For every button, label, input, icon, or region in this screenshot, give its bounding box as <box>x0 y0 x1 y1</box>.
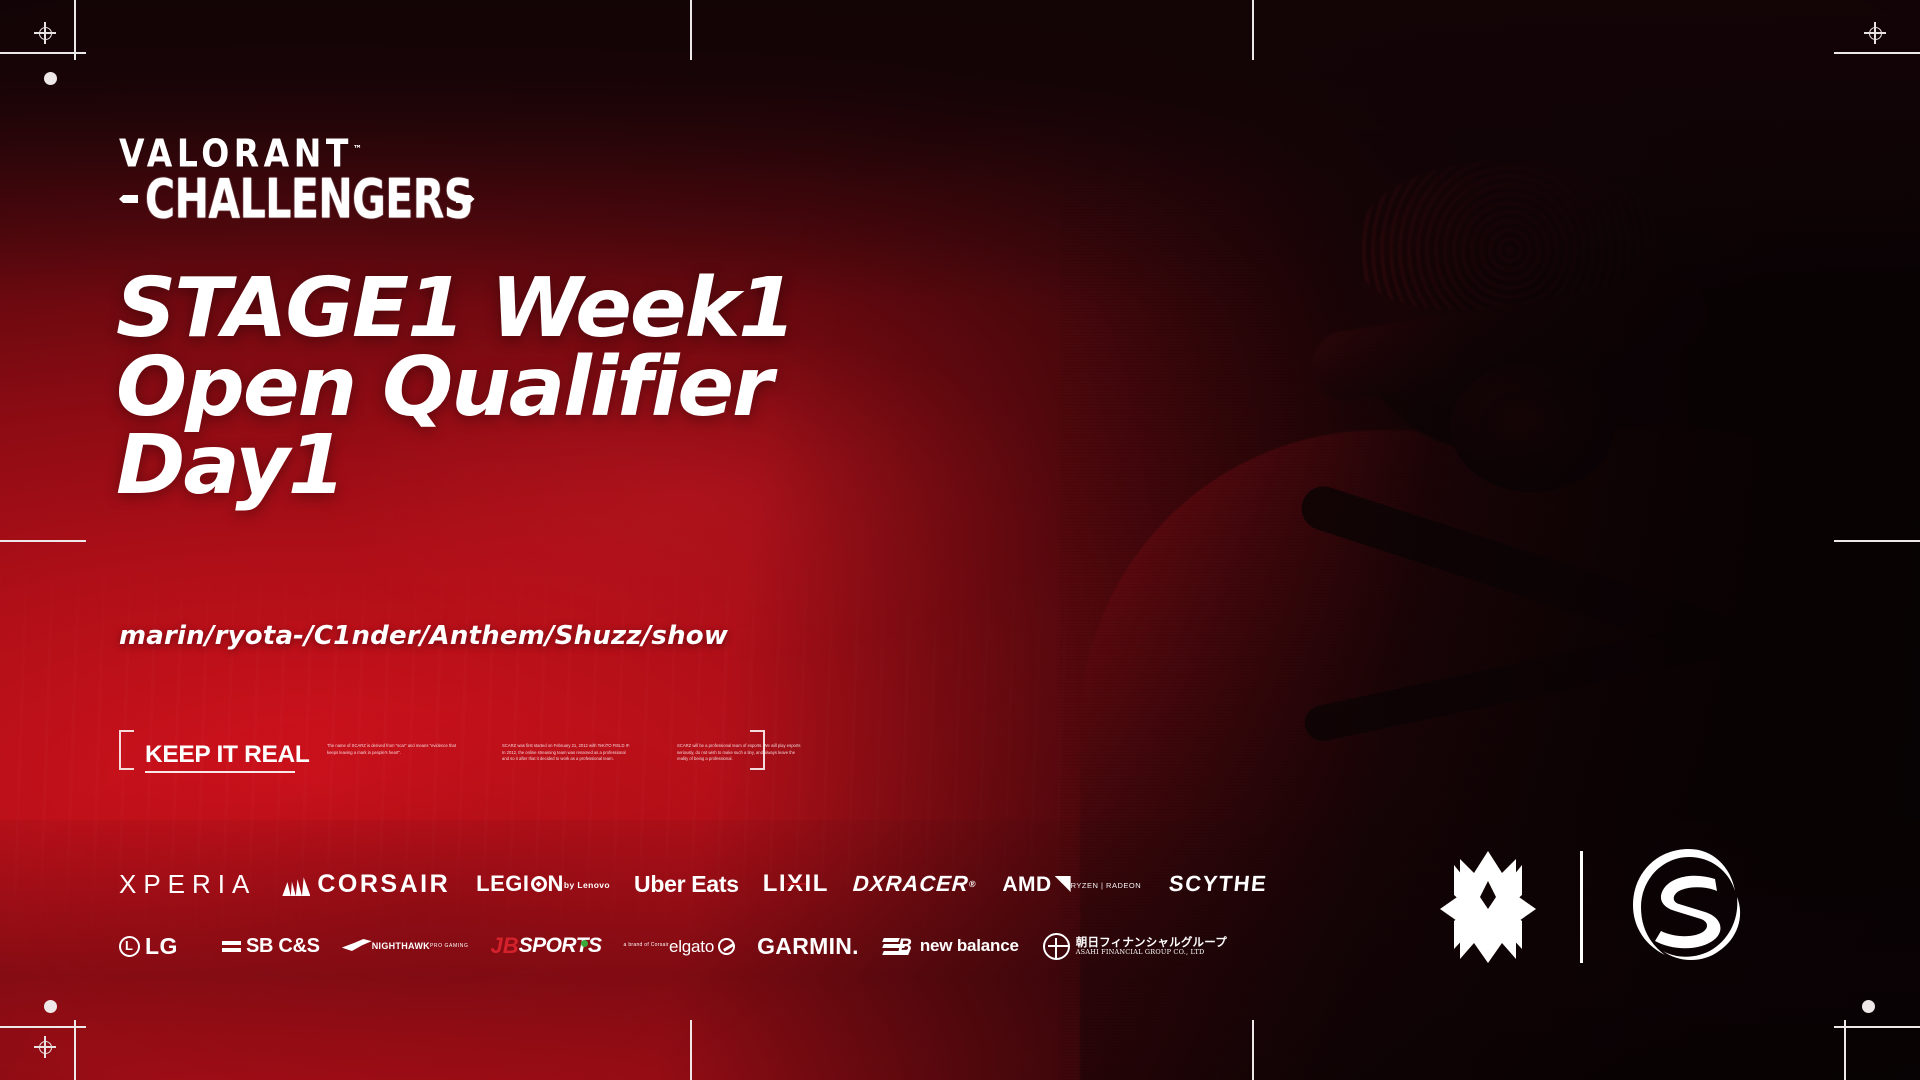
crop-mark-bottom-center2 <box>690 1020 692 1080</box>
event-title-block: STAGE1 Week1 Open Qualifier Day1 <box>116 270 1076 506</box>
broadcast-poster: VALORANT™ CHALLENGERS STAGE1 Week1 Open … <box>0 0 1920 1080</box>
sponsor-logo-lg: LG <box>119 933 178 960</box>
crop-mark-top-left <box>74 0 76 60</box>
sponsor-logo-ubereats: Uber Eats <box>634 871 739 898</box>
sponsor-logo-scythe: SCYTHE <box>1168 871 1269 897</box>
crop-mark-bottom-left <box>74 1020 76 1080</box>
sponsor-logo-sbcs: SB C&S <box>222 935 320 958</box>
asahi-crest-icon <box>1043 933 1070 960</box>
lg-face-icon <box>119 936 140 957</box>
sponsor-logo-lixil: LIXIL <box>763 870 829 898</box>
sponsor-logo-asahi: 朝日フィナンシャルグループ ASAHI FINANCIAL GROUP CO.,… <box>1043 933 1227 960</box>
crop-mark-top-center <box>1252 0 1254 60</box>
sponsor-logo-elgato: a brand of Corsair elgato <box>624 938 736 955</box>
newbalance-n-icon: B <box>883 938 909 955</box>
bracket-top-left-icon <box>119 730 134 770</box>
challengers-wordmark-text: CHALLENGERS <box>145 172 473 226</box>
sponsor-row-1: XPERIA CORSAIR LEGIN by Lenovo Uber Eats… <box>119 862 959 906</box>
sponsor-logo-xperia: XPERIA <box>119 869 256 900</box>
valorant-star-icon <box>1440 851 1536 963</box>
nighthawk-bird-icon <box>342 939 372 951</box>
challengers-dash-left-icon <box>119 195 138 203</box>
sponsor-logo-garmin: GARMIN. <box>757 933 859 960</box>
crop-mark-left-middle <box>0 540 86 542</box>
registration-dot-icon <box>44 1000 57 1013</box>
sponsor-bar: XPERIA CORSAIR LEGIN by Lenovo Uber Eats… <box>119 862 959 964</box>
crop-mark-top-center2 <box>690 0 692 60</box>
keep-it-real-title: KEEP IT REAL <box>145 741 310 769</box>
title-line-2: Open Qualifier <box>116 349 1095 428</box>
registration-crosshair-icon <box>1864 22 1886 44</box>
sponsor-logo-newbalance: B new balance <box>883 936 1019 956</box>
corsair-sails-icon <box>282 872 310 896</box>
softbank-bars-icon <box>222 941 241 952</box>
sponsor-logo-amd: AMD RYZEN | RADEON <box>1002 874 1141 895</box>
registration-crosshair-icon <box>34 22 56 44</box>
jbsports-dot-icon <box>581 940 588 947</box>
partner-logo-lockup <box>1440 845 1751 969</box>
crop-mark-bottom-right <box>1844 1020 1846 1080</box>
registration-dot-icon <box>44 72 57 85</box>
amd-arrow-icon <box>1055 876 1071 892</box>
sponsor-logo-dxracer: DXRACER® <box>852 871 977 897</box>
registration-dot-icon <box>1862 1000 1875 1013</box>
logo-divider <box>1580 851 1583 963</box>
keep-it-real-underline <box>145 771 295 773</box>
registration-crosshair-icon <box>34 1036 56 1058</box>
crop-mark-left-top <box>0 52 86 54</box>
keep-it-real-block: KEEP IT REAL The name of SCARZ is derive… <box>119 730 765 790</box>
sponsor-logo-corsair: CORSAIR <box>282 870 450 899</box>
sponsor-row-2: LG LAZONA SB C&S NIGHTHAWK PRO GAMING JB… <box>119 928 959 964</box>
title-line-3: Day1 <box>116 427 1095 506</box>
valorant-trademark: ™ <box>353 144 362 156</box>
legal-column-3: SCARZ will be a professional team of esp… <box>677 743 807 763</box>
crop-mark-bottom-center <box>1252 1020 1254 1080</box>
sponsor-logo-nighthawk: NIGHTHAWK PRO GAMING <box>342 939 469 953</box>
title-line-1: STAGE1 Week1 <box>116 270 1095 349</box>
challengers-row: CHALLENGERS <box>119 180 475 218</box>
scarz-s-icon <box>1627 845 1751 969</box>
crop-mark-right-bottom <box>1834 1026 1920 1028</box>
elgato-mark-icon <box>718 938 735 955</box>
legal-column-1: The name of SCARZ is derived from "scar"… <box>327 743 457 763</box>
legion-o-icon <box>531 876 547 892</box>
valorant-challengers-lockup: VALORANT™ CHALLENGERS <box>119 134 475 218</box>
sponsor-logo-legion: LEGIN by Lenovo <box>476 873 610 895</box>
talent-names: marin/ryota-/C1nder/Anthem/Shuzz/show <box>119 621 728 651</box>
legal-column-2: SCARZ was first started on February 21, … <box>502 743 632 763</box>
crop-mark-right-middle <box>1834 540 1920 542</box>
sponsor-logo-jbsports: JB SPORTS <box>490 933 601 959</box>
keep-it-real-columns: The name of SCARZ is derived from "scar"… <box>327 743 807 763</box>
crop-mark-right-top <box>1834 52 1920 54</box>
valorant-wordmark: VALORANT™ <box>119 134 475 172</box>
